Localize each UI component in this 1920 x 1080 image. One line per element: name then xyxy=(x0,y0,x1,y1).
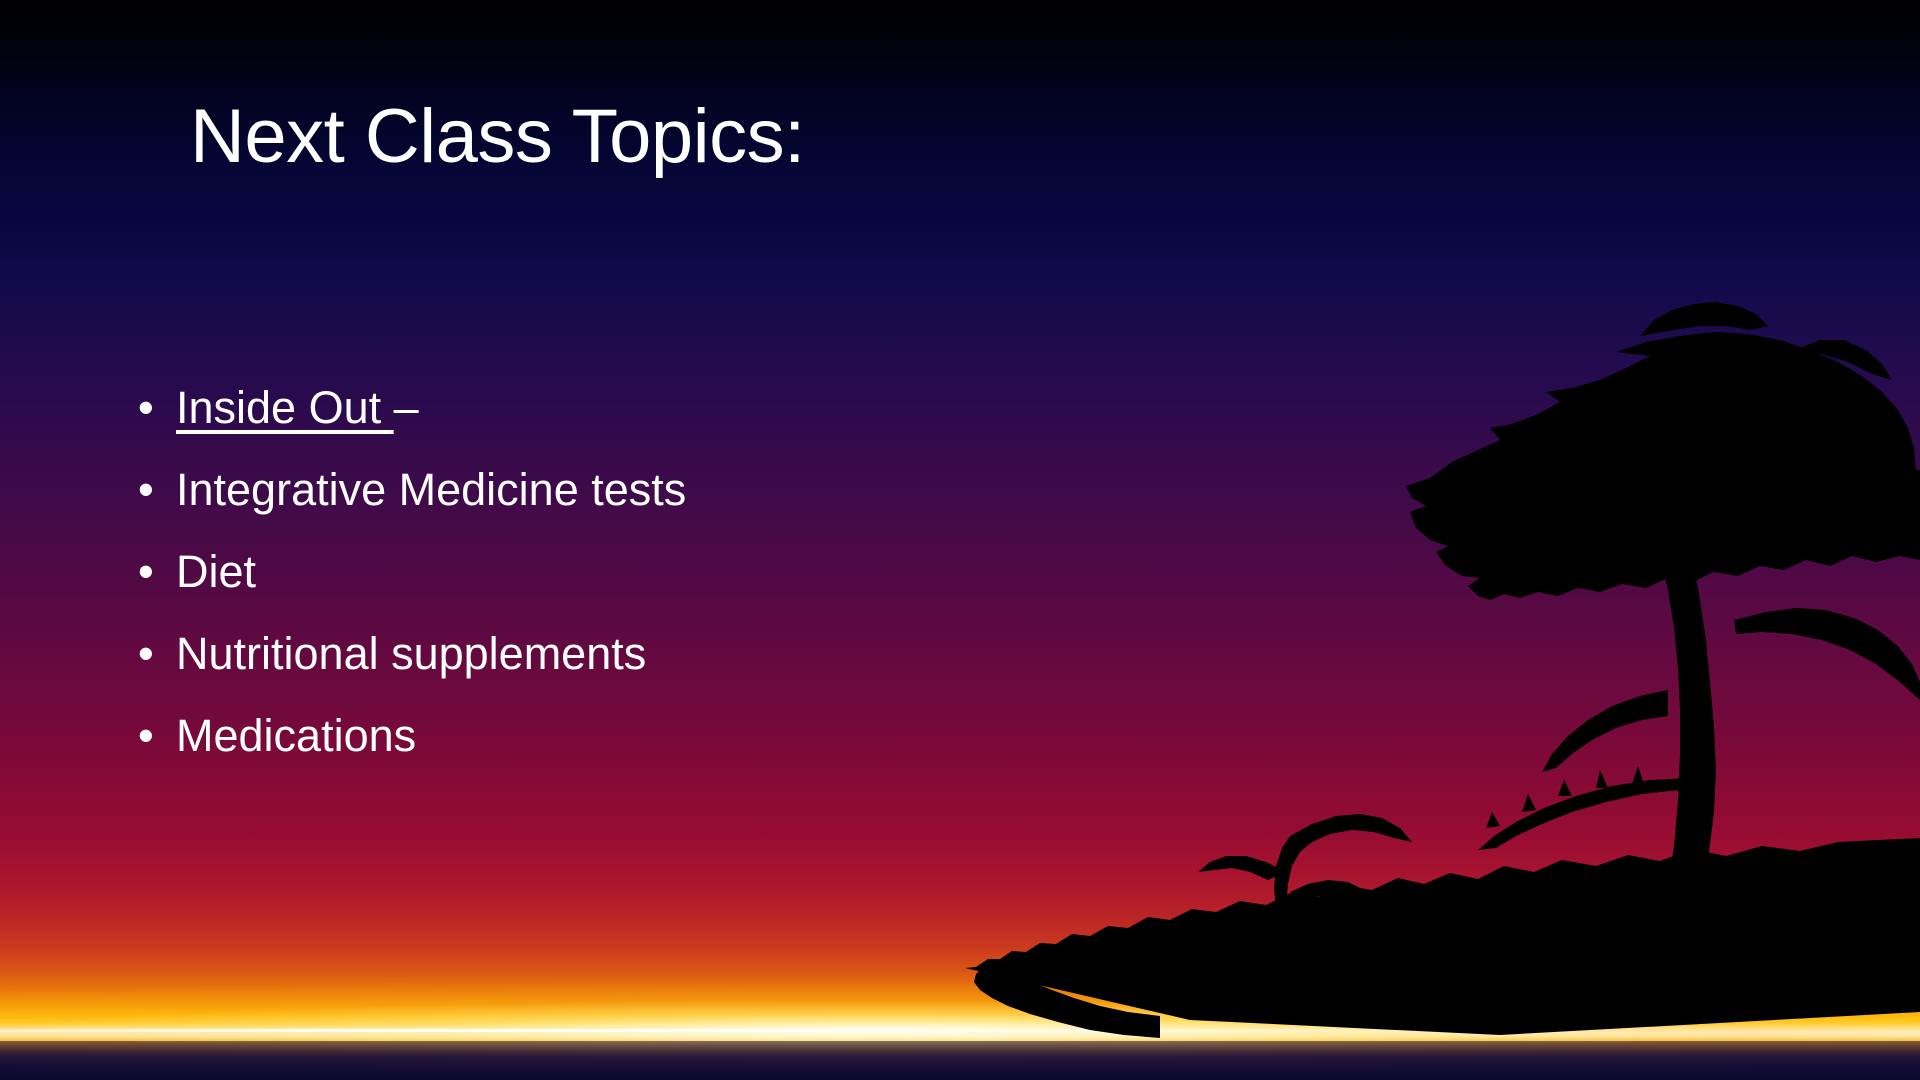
list-item: • Medications xyxy=(138,695,686,777)
list-item-plain-text: – xyxy=(394,382,419,433)
list-item-text: Nutritional supplements xyxy=(176,613,646,695)
horizon-light-line xyxy=(0,1029,1920,1032)
list-item: • Nutritional supplements xyxy=(138,613,686,695)
list-item-text: Diet xyxy=(176,531,256,613)
water-band xyxy=(0,1041,1920,1080)
list-item: • Inside Out – xyxy=(138,367,686,449)
bullet-marker-icon: • xyxy=(138,367,176,449)
list-item-underlined-text: Inside Out xyxy=(176,382,394,433)
list-item: • Integrative Medicine tests xyxy=(138,449,686,531)
bullet-marker-icon: • xyxy=(138,449,176,531)
list-item-text: Medications xyxy=(176,695,416,777)
bullet-marker-icon: • xyxy=(138,531,176,613)
bullet-marker-icon: • xyxy=(138,695,176,777)
presentation-slide: Next Class Topics: • Inside Out – • Inte… xyxy=(0,0,1920,1080)
list-item-text: Integrative Medicine tests xyxy=(176,449,686,531)
page-title: Next Class Topics: xyxy=(190,97,805,177)
list-item-text: Inside Out – xyxy=(176,367,419,449)
list-item: • Diet xyxy=(138,531,686,613)
topics-bullet-list: • Inside Out – • Integrative Medicine te… xyxy=(138,367,686,777)
bullet-marker-icon: • xyxy=(138,613,176,695)
